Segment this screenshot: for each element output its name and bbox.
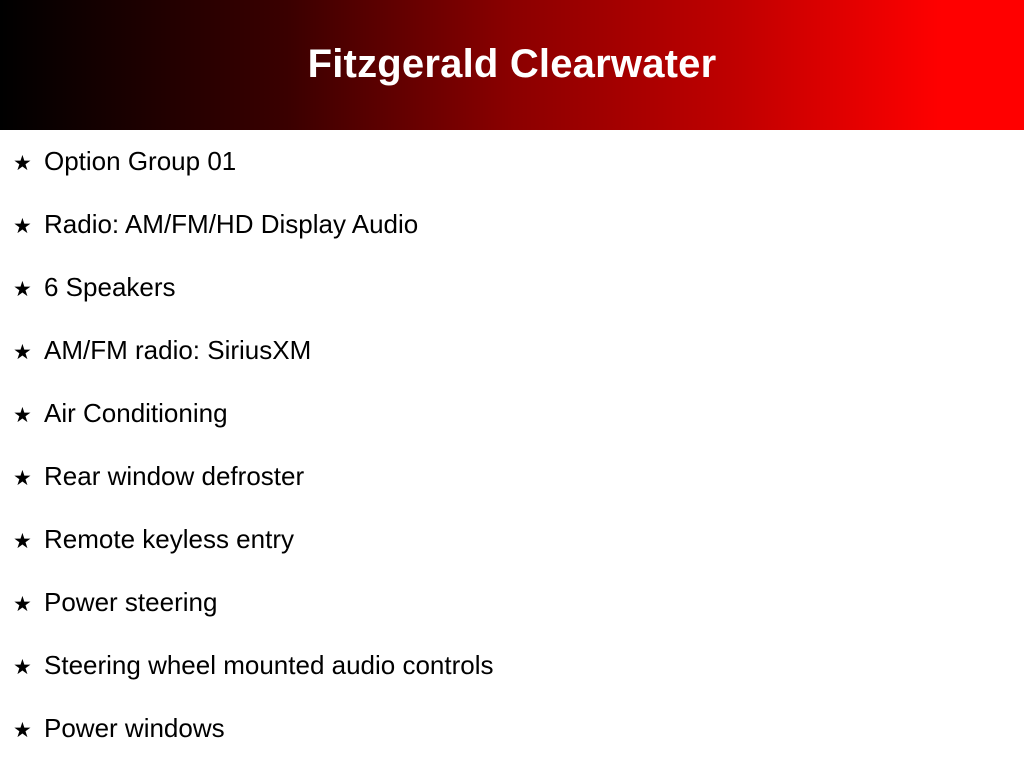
list-item-label: Remote keyless entry xyxy=(44,524,1024,555)
star-icon: ★ xyxy=(13,153,44,174)
list-item-label: Steering wheel mounted audio controls xyxy=(44,650,1024,681)
presentation-slide: Fitzgerald Clearwater ★ Option Group 01 … xyxy=(0,0,1024,768)
list-item: ★ Radio: AM/FM/HD Display Audio xyxy=(0,209,1024,272)
list-item: ★ Power windows xyxy=(0,713,1024,776)
feature-bullet-list: ★ Option Group 01 ★ Radio: AM/FM/HD Disp… xyxy=(0,130,1024,776)
list-item: ★ AM/FM radio: SiriusXM xyxy=(0,335,1024,398)
star-icon: ★ xyxy=(13,594,44,615)
list-item: ★ Air Conditioning xyxy=(0,398,1024,461)
page-title: Fitzgerald Clearwater xyxy=(308,42,717,86)
list-item-label: Air Conditioning xyxy=(44,398,1024,429)
list-item-label: Power steering xyxy=(44,587,1024,618)
list-item-label: Option Group 01 xyxy=(44,146,1024,177)
list-item-label: Power windows xyxy=(44,713,1024,744)
star-icon: ★ xyxy=(13,720,44,741)
list-item-label: Rear window defroster xyxy=(44,461,1024,492)
list-item: ★ Remote keyless entry xyxy=(0,524,1024,587)
list-item: ★ 6 Speakers xyxy=(0,272,1024,335)
list-item-label: Radio: AM/FM/HD Display Audio xyxy=(44,209,1024,240)
star-icon: ★ xyxy=(13,468,44,489)
star-icon: ★ xyxy=(13,342,44,363)
list-item: ★ Rear window defroster xyxy=(0,461,1024,524)
list-item: ★ Option Group 01 xyxy=(0,146,1024,209)
list-item-label: 6 Speakers xyxy=(44,272,1024,303)
slide-content-area: ★ Option Group 01 ★ Radio: AM/FM/HD Disp… xyxy=(0,130,1024,776)
star-icon: ★ xyxy=(13,216,44,237)
list-item: ★ Steering wheel mounted audio controls xyxy=(0,650,1024,713)
star-icon: ★ xyxy=(13,405,44,426)
list-item-label: AM/FM radio: SiriusXM xyxy=(44,335,1024,366)
star-icon: ★ xyxy=(13,657,44,678)
list-item: ★ Power steering xyxy=(0,587,1024,650)
star-icon: ★ xyxy=(13,531,44,552)
star-icon: ★ xyxy=(13,279,44,300)
slide-header-banner: Fitzgerald Clearwater xyxy=(0,0,1024,130)
